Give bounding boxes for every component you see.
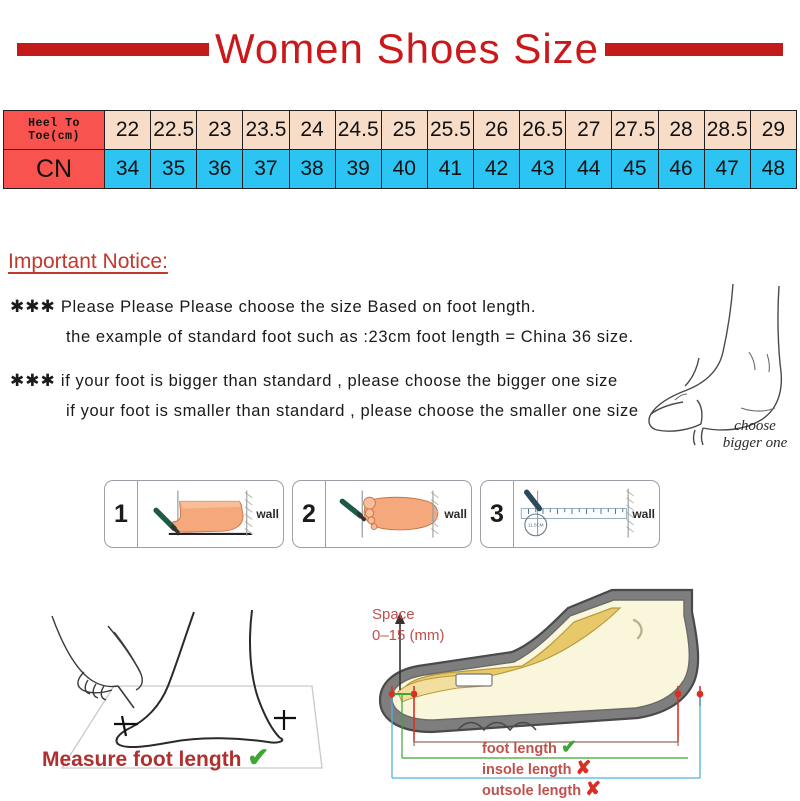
foot-sketch-caption: choose bigger one xyxy=(700,418,800,452)
step-1-illustration: wall xyxy=(138,481,283,547)
notice-line-3: ✱✱✱ if your foot is bigger than standard… xyxy=(10,366,690,396)
notice-spacer xyxy=(10,352,690,366)
cell-cn: 37 xyxy=(243,150,289,189)
legend-insole-length: insole length ✘ xyxy=(482,759,732,780)
cell-cn: 47 xyxy=(704,150,750,189)
size-chart-table: Heel To Toe(cm) 22 22.5 23 23.5 24 24.5 … xyxy=(3,110,797,189)
cell-cn: 38 xyxy=(289,150,335,189)
cell-cn: 36 xyxy=(197,150,243,189)
space-label-line-2: 0–15 (mm) xyxy=(372,625,445,646)
step-2-wall-label: wall xyxy=(444,507,467,521)
notice-block: ✱✱✱ Please Please Please choose the size… xyxy=(10,292,690,426)
cell-cm: 25.5 xyxy=(427,111,473,150)
cell-cn: 42 xyxy=(474,150,520,189)
cell-cm: 26 xyxy=(474,111,520,150)
toe-space-label: Space 0–15 (mm) xyxy=(372,604,445,646)
step-2: 2 wall xyxy=(292,480,472,548)
step-3: 3 11.5CM xyxy=(480,480,660,548)
check-icon: ✔ xyxy=(561,737,577,758)
legend-foot-length-text: foot length xyxy=(482,741,557,757)
measure-foot-caption: Measure foot length ✔ xyxy=(42,742,269,773)
cell-cm: 24 xyxy=(289,111,335,150)
cell-cn: 44 xyxy=(566,150,612,189)
asterisk-marker: ✱✱✱ xyxy=(10,297,56,316)
notice-line-4: if your foot is smaller than standard , … xyxy=(10,396,690,426)
step-1-number: 1 xyxy=(105,481,138,547)
notice-heading: Important Notice: xyxy=(8,250,168,274)
legend-insole-length-text: insole length xyxy=(482,762,571,778)
step-3-illustration: 3 11.5CM xyxy=(481,481,659,547)
step-3-number: 3 xyxy=(481,481,514,547)
cell-cm: 23.5 xyxy=(243,111,289,150)
notice-line-2: the example of standard foot such as :23… xyxy=(10,322,690,352)
cell-cm: 27 xyxy=(566,111,612,150)
step-1: 1 wall xyxy=(104,480,284,548)
measure-steps: 1 wall 2 xyxy=(104,480,660,548)
title-bar-left xyxy=(17,43,209,56)
sketch-caption-line-2: bigger one xyxy=(700,435,800,452)
table-row-cn: CN 34 35 36 37 38 39 40 41 42 43 44 45 4… xyxy=(4,150,797,189)
step-2-number: 2 xyxy=(293,481,326,547)
step-2-illustration: wall xyxy=(326,481,471,547)
cell-cm: 28 xyxy=(658,111,704,150)
cell-cn: 43 xyxy=(520,150,566,189)
cell-cn: 45 xyxy=(612,150,658,189)
cell-cn: 34 xyxy=(105,150,151,189)
length-legend: foot length ✔ insole length ✘ outsole le… xyxy=(482,738,732,801)
cell-cm: 24.5 xyxy=(335,111,381,150)
space-label-line-1: Space xyxy=(372,604,445,625)
measure-caption-text: Measure foot length xyxy=(42,748,242,771)
cell-cn: 39 xyxy=(335,150,381,189)
ruler-mark-label: 11.5CM xyxy=(528,523,544,528)
cell-cm: 22 xyxy=(105,111,151,150)
notice-line-1: ✱✱✱ Please Please Please choose the size… xyxy=(10,292,690,322)
cell-cm: 26.5 xyxy=(520,111,566,150)
cell-cm: 25 xyxy=(381,111,427,150)
check-icon: ✔ xyxy=(247,742,269,772)
title-bar-right xyxy=(605,43,783,56)
cross-icon: ✘ xyxy=(575,758,591,779)
cell-cn: 46 xyxy=(658,150,704,189)
cell-cm: 27.5 xyxy=(612,111,658,150)
notice-line-1-text: Please Please Please choose the size Bas… xyxy=(61,298,536,316)
legend-outsole-length-text: outsole length xyxy=(482,783,581,799)
row-label-cn: CN xyxy=(4,150,105,189)
cell-cn: 48 xyxy=(750,150,796,189)
cell-cm: 22.5 xyxy=(151,111,197,150)
page-title-row: Women Shoes Size xyxy=(0,20,800,78)
cell-cn: 41 xyxy=(427,150,473,189)
row-label-heel-to-toe: Heel To Toe(cm) xyxy=(4,111,105,150)
cell-cn: 40 xyxy=(381,150,427,189)
cell-cm: 29 xyxy=(750,111,796,150)
notice-line-3-text: if your foot is bigger than standard , p… xyxy=(61,372,618,390)
sketch-caption-line-1: choose xyxy=(700,418,800,435)
page-title: Women Shoes Size xyxy=(209,25,605,73)
cell-cm: 28.5 xyxy=(704,111,750,150)
step-3-wall-label: wall xyxy=(632,507,655,521)
cell-cn: 35 xyxy=(151,150,197,189)
legend-outsole-length: outsole length ✘ xyxy=(482,780,732,801)
cell-cm: 23 xyxy=(197,111,243,150)
step-1-wall-label: wall xyxy=(256,507,279,521)
asterisk-marker: ✱✱✱ xyxy=(10,371,56,390)
legend-foot-length: foot length ✔ xyxy=(482,738,732,759)
table-row-heel-to-toe: Heel To Toe(cm) 22 22.5 23 23.5 24 24.5 … xyxy=(4,111,797,150)
cross-icon: ✘ xyxy=(585,779,601,800)
